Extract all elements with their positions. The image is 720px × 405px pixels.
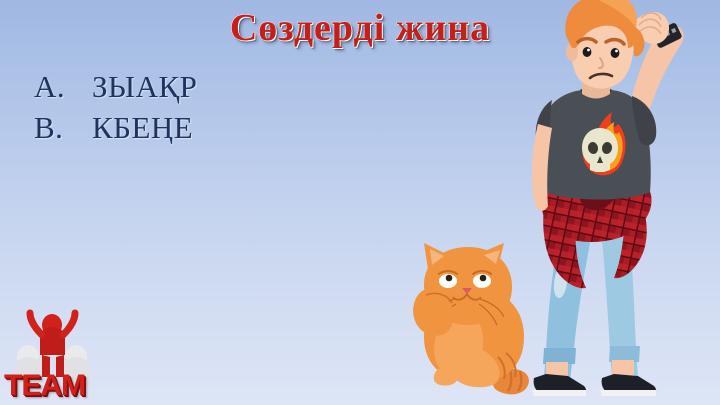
quiz-slide: Сөздерді жина A. ЗЫАҚР B. КБЕҢЕ: [0, 0, 720, 405]
boy-eye-left: [583, 47, 592, 57]
team-logo-text: TEAM: [4, 369, 85, 403]
list-item[interactable]: A. ЗЫАҚР: [34, 66, 197, 107]
thinking-cat-illustration: [402, 241, 554, 405]
list-item[interactable]: B. КБЕҢЕ: [34, 107, 197, 148]
option-key-b: B.: [34, 107, 92, 148]
option-value-b: КБЕҢЕ: [92, 107, 193, 148]
logo-red-arm-right: [63, 313, 75, 335]
option-value-a: ЗЫАҚР: [92, 66, 197, 107]
boy-eye-right: [611, 48, 620, 58]
shoe-sole-right: [600, 390, 656, 396]
jean-cuff-right: [609, 346, 640, 362]
option-key-a: A.: [34, 66, 92, 107]
answer-options-list: A. ЗЫАҚР B. КБЕҢЕ: [34, 66, 197, 148]
logo-red-body: [40, 327, 65, 355]
logo-red-arm-left: [30, 313, 42, 335]
team-logo: TEAM: [2, 305, 106, 405]
